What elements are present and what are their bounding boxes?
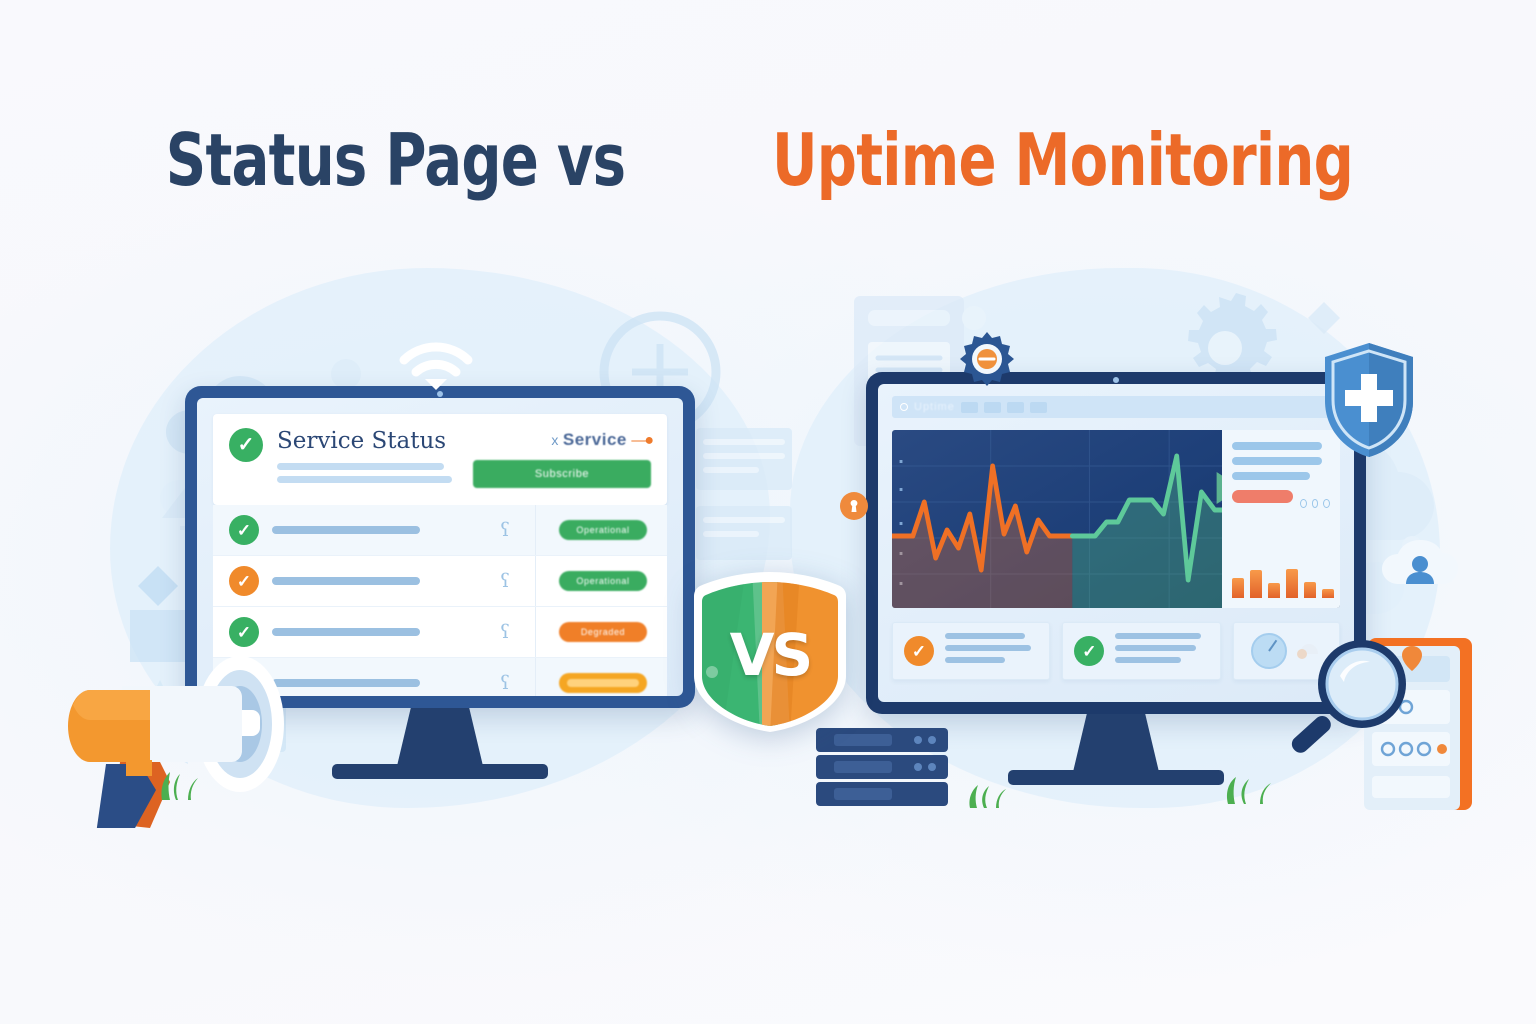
- topbar-segment: [1030, 402, 1047, 413]
- placeholder-line: [277, 463, 444, 470]
- stat-card[interactable]: ✓: [1062, 622, 1220, 680]
- status-dots: [1300, 499, 1330, 508]
- gear-icon: [958, 330, 1016, 388]
- uptime-glyph: ʕ: [500, 570, 516, 592]
- row-divider: [535, 505, 536, 555]
- status-badge: Operational: [559, 571, 647, 591]
- monitor-stand-neck: [1073, 714, 1159, 772]
- topbar-segment: [961, 402, 978, 413]
- grass-decor: [962, 778, 1014, 808]
- page-title-accent: Uptime Monitoring: [772, 118, 1353, 202]
- topbar-segment: [1007, 402, 1024, 413]
- brand-area: x Service —● Subscribe: [473, 428, 651, 488]
- placeholder-line: [1232, 472, 1310, 480]
- placeholder-line: [1232, 457, 1322, 465]
- page-title-primary: Status Page vs: [166, 118, 626, 202]
- subscribe-button[interactable]: Subscribe: [473, 460, 651, 488]
- check-circle-icon: ✓: [229, 515, 259, 545]
- user-gear-icon: [1382, 540, 1458, 602]
- stat-card-row: ✓ ✓: [892, 622, 1340, 680]
- check-circle-icon: ✓: [1074, 636, 1104, 666]
- alert-bar: [1232, 490, 1293, 503]
- monitor-stand-neck: [397, 708, 483, 766]
- vs-label: VS: [686, 568, 854, 736]
- brand-lockup: x Service —●: [473, 430, 651, 450]
- uptime-line-chart: [892, 430, 1340, 608]
- placeholder-line: [277, 476, 452, 483]
- illustration-canvas: Status Page vs Uptime Monitoring ✓ Servi…: [0, 0, 1536, 1024]
- magnifying-glass-icon: [1282, 634, 1412, 764]
- status-badge: Degraded: [559, 622, 647, 642]
- check-circle-icon: ✓: [229, 428, 263, 462]
- monitor-stand-base: [1008, 770, 1224, 785]
- stat-lines: [945, 633, 1038, 669]
- stat-card[interactable]: ✓: [892, 622, 1050, 680]
- placeholder-line: [1232, 442, 1322, 450]
- brand-dots-icon: —●: [631, 432, 651, 449]
- service-name-placeholder: [272, 577, 420, 585]
- lock-icon: [840, 492, 868, 520]
- topbar-segment: [984, 402, 1001, 413]
- check-circle-icon: ✓: [904, 636, 934, 666]
- service-status-heading: Service Status: [277, 428, 459, 454]
- mini-bar-chart: [1232, 540, 1334, 598]
- table-row[interactable]: ✓ ʕ Operational: [213, 556, 667, 607]
- dashboard-topbar: Uptime: [892, 396, 1340, 418]
- page-title: Status Page vs Uptime Monitoring: [0, 118, 1536, 202]
- service-status-card: ✓ Service Status x Service —● Subscribe: [213, 414, 667, 505]
- circle-icon: [900, 403, 908, 411]
- stat-lines: [1115, 633, 1208, 669]
- row-divider: [535, 658, 536, 696]
- check-circle-icon: ✓: [229, 566, 259, 596]
- brand-name: Service: [563, 430, 627, 449]
- uptime-glyph: ʕ: [500, 519, 516, 541]
- monitor-stand-base: [332, 764, 548, 779]
- wifi-icon: [396, 338, 476, 394]
- brand-mark-icon: x: [551, 432, 558, 448]
- grass-decor: [1218, 772, 1278, 804]
- service-name-placeholder: [272, 526, 420, 534]
- server-stack-icon: [812, 726, 962, 810]
- shield-plus-icon: [1320, 340, 1418, 460]
- dashboard-title: Uptime: [914, 401, 955, 413]
- status-badge: [559, 673, 647, 693]
- grass-decor: [152, 766, 208, 800]
- uptime-glyph: ʕ: [500, 672, 516, 694]
- row-divider: [535, 556, 536, 606]
- uptime-glyph: ʕ: [500, 621, 516, 643]
- row-divider: [535, 607, 536, 657]
- status-badge: Operational: [559, 520, 647, 540]
- table-row[interactable]: ✓ ʕ Operational: [213, 505, 667, 556]
